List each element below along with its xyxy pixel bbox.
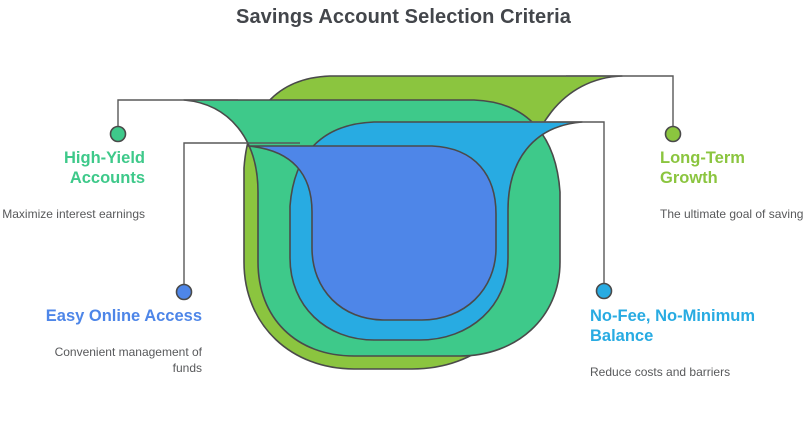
label-title-easy-online-access: Easy Online Access <box>22 306 202 326</box>
label-no-fee-no-minimum-balance[interactable]: No-Fee, No-Minimum Balance Reduce costs … <box>590 306 790 380</box>
label-description-easy-online-access: Convenient management of funds <box>22 344 202 376</box>
label-title-high-yield-accounts: High-Yield Accounts <box>0 148 145 188</box>
label-title-no-fee-no-minimum-balance: No-Fee, No-Minimum Balance <box>590 306 790 346</box>
circle-marker-icon-no-fee-no-minimum[interactable] <box>597 284 612 299</box>
circle-marker-icon-long-term-growth[interactable] <box>666 127 681 142</box>
label-high-yield-accounts[interactable]: High-Yield Accounts Maximize interest ea… <box>0 148 145 222</box>
label-long-term-growth[interactable]: Long-Term Growth The ultimate goal of sa… <box>660 148 807 222</box>
label-easy-online-access[interactable]: Easy Online Access Convenient management… <box>22 306 202 376</box>
label-description-long-term-growth: The ultimate goal of saving <box>660 206 807 222</box>
label-title-long-term-growth: Long-Term Growth <box>660 148 807 188</box>
label-description-no-fee-no-minimum-balance: Reduce costs and barriers <box>590 364 790 380</box>
circle-marker-icon-easy-online-access[interactable] <box>177 285 192 300</box>
circle-marker-icon-high-yield-accounts[interactable] <box>111 127 126 142</box>
label-description-high-yield-accounts: Maximize interest earnings <box>0 206 145 222</box>
funnel-layers <box>184 76 622 369</box>
diagram-canvas: Savings Account Selection Criteria <box>0 0 807 427</box>
